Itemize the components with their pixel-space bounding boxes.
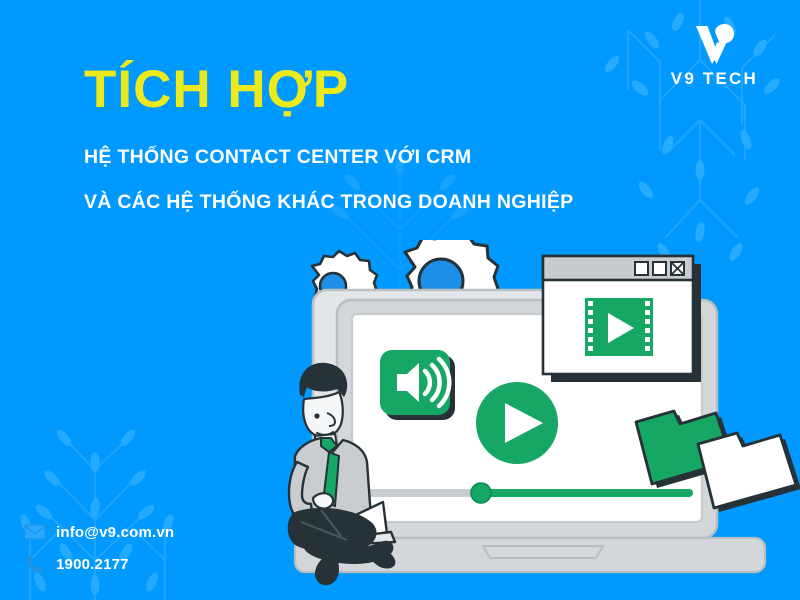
film-strip-icon	[585, 298, 653, 356]
page-title: TÍCH HỢP	[84, 62, 573, 118]
subtitle-line-1: HỆ THỐNG CONTACT CENTER VỚI CRM	[84, 148, 573, 168]
brand-logo: V9 TECH	[671, 20, 758, 87]
contact-row-email[interactable]: info@v9.com.vn	[22, 518, 174, 546]
subtitle-block: HỆ THỐNG CONTACT CENTER VỚI CRM VÀ CÁC H…	[84, 148, 573, 213]
window-control-minimize[interactable]	[635, 262, 648, 275]
headline-block: TÍCH HỢP HỆ THỐNG CONTACT CENTER VỚI CRM…	[84, 62, 573, 213]
logo-text: V9 TECH	[671, 70, 758, 87]
phone-icon	[22, 554, 48, 574]
v9-v-mark-icon	[691, 20, 737, 66]
contact-block: info@v9.com.vn 1900.2177	[22, 518, 174, 578]
envelope-icon	[22, 522, 48, 542]
window-control-close[interactable]	[671, 262, 684, 275]
multimedia-integration-illustration	[255, 240, 800, 600]
subtitle-line-2: VÀ CÁC HỆ THỐNG KHÁC TRONG DOANH NGHIỆP	[84, 193, 573, 213]
window-control-maximize[interactable]	[653, 262, 666, 275]
play-button-icon[interactable]	[476, 382, 558, 464]
contact-email-text: info@v9.com.vn	[56, 524, 174, 541]
contact-row-phone[interactable]: 1900.2177	[22, 550, 174, 578]
folder-white-icon	[698, 433, 800, 512]
video-window	[543, 256, 701, 382]
speaker-icon	[380, 350, 455, 420]
contact-phone-text: 1900.2177	[56, 556, 129, 573]
